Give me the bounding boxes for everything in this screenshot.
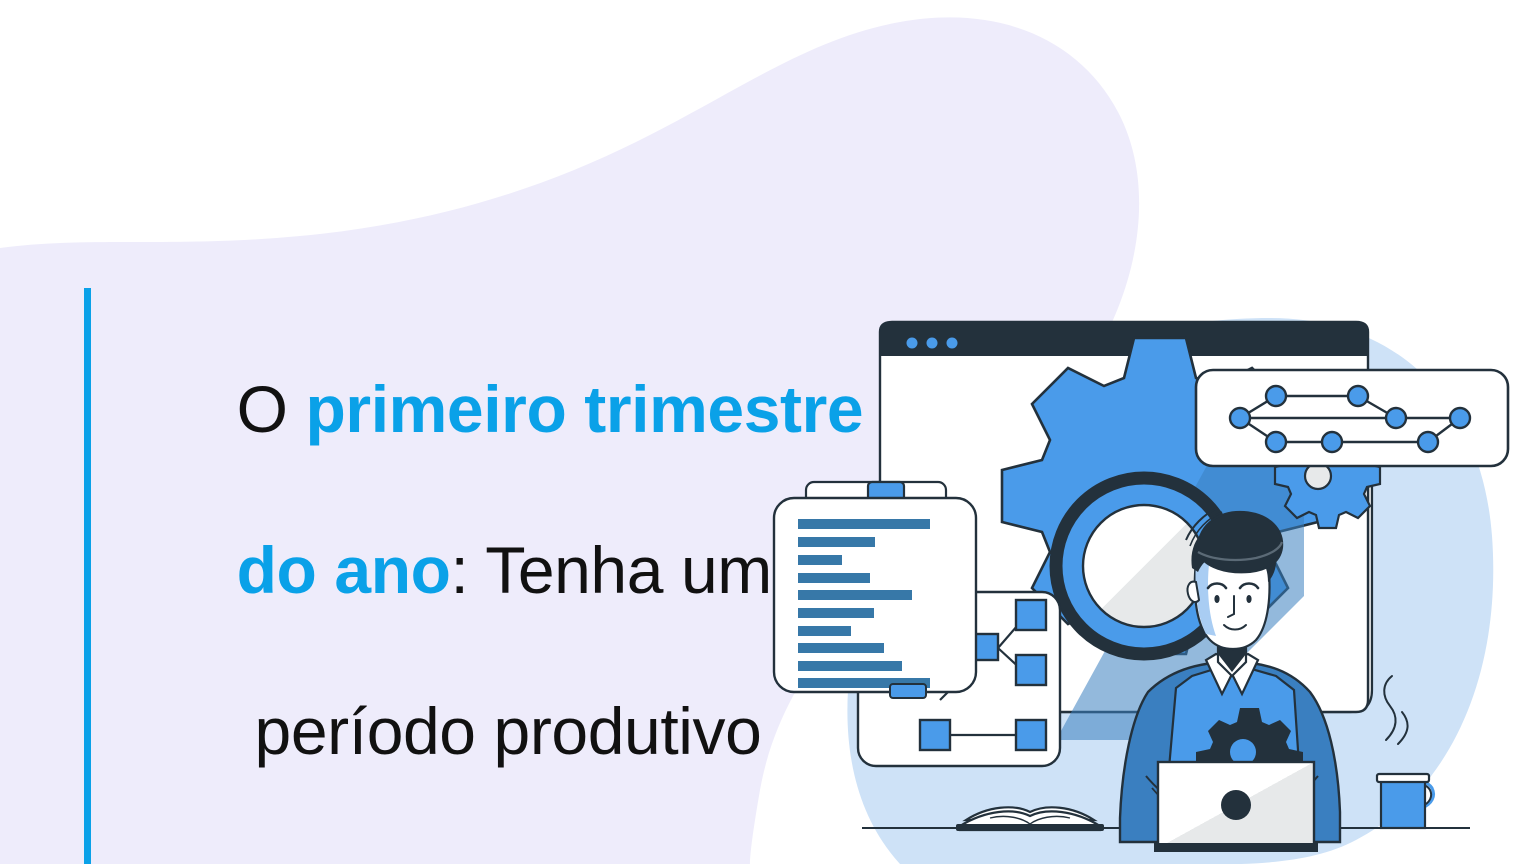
headline-segment-relaxante: e relaxante! — [237, 855, 577, 864]
coffee-mug-with-steam — [1377, 676, 1434, 828]
accent-bar — [84, 288, 91, 864]
page-title: O primeiro trimestre do ano: Tenha um pe… — [91, 288, 863, 864]
network-graph-card[interactable] — [1196, 370, 1508, 466]
headline-segment-periodo-produtivo: período produtivo — [237, 694, 762, 768]
headline-segment-o: O — [237, 372, 306, 446]
headline-segment-primeiro-trimestre: primeiro trimestre — [306, 372, 864, 446]
open-book — [956, 807, 1104, 831]
headline-segment-do-ano: do ano — [237, 533, 451, 607]
laptop-logo-icon — [1221, 790, 1251, 820]
headline-segment-tenha-um: : Tenha um — [451, 533, 772, 607]
headline-block: O primeiro trimestre do ano: Tenha um pe… — [84, 288, 864, 864]
laptop[interactable] — [1154, 762, 1318, 852]
poster-canvas: O primeiro trimestre do ano: Tenha um pe… — [0, 0, 1536, 864]
browser-window-dots — [907, 338, 958, 349]
